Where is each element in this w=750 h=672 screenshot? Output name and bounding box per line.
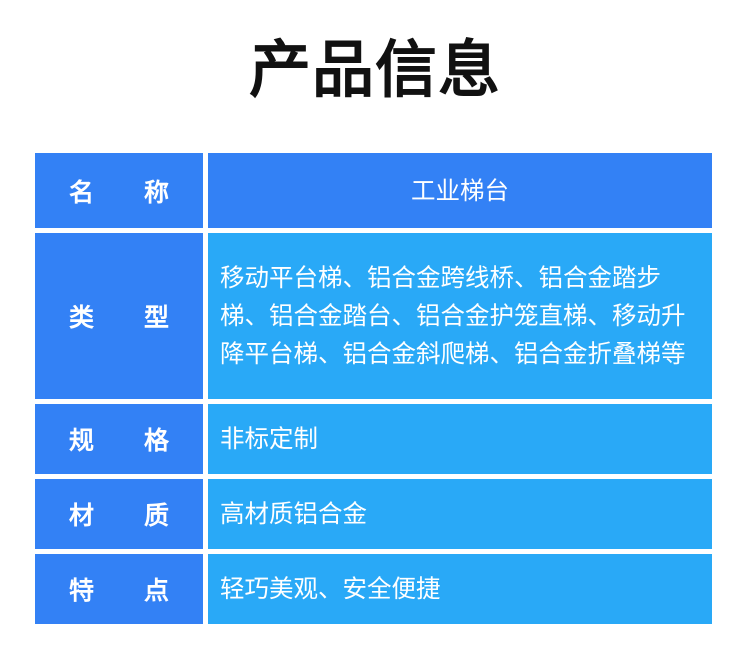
row-value-text: 非标定制: [220, 420, 318, 458]
table-row: 材 质 高材质铝合金: [35, 479, 712, 549]
row-label-type: 类 型: [35, 233, 203, 399]
row-value-name: 工业梯台: [208, 153, 712, 228]
row-label-text: 材 质: [69, 496, 169, 532]
row-value-text: 工业梯台: [411, 172, 509, 210]
row-label-material: 材 质: [35, 479, 203, 549]
row-value-material: 高材质铝合金: [208, 479, 712, 549]
row-value-text: 轻巧美观、安全便捷: [220, 570, 441, 608]
row-value-specification: 非标定制: [208, 404, 712, 474]
page-title: 产品信息: [0, 34, 750, 106]
row-label-text: 名 称: [69, 173, 169, 209]
row-value-feature: 轻巧美观、安全便捷: [208, 554, 712, 624]
row-label-text: 特 点: [69, 571, 169, 607]
product-info-table: 名 称 工业梯台 类 型 移动平台梯、铝合金跨线桥、铝合金踏步梯、铝合金踏台、铝…: [35, 153, 712, 624]
row-value-type: 移动平台梯、铝合金跨线桥、铝合金踏步梯、铝合金踏台、铝合金护笼直梯、移动升降平台…: [208, 233, 712, 399]
row-value-text: 移动平台梯、铝合金跨线桥、铝合金踏步梯、铝合金踏台、铝合金护笼直梯、移动升降平台…: [220, 259, 698, 373]
row-label-specification: 规 格: [35, 404, 203, 474]
row-label-feature: 特 点: [35, 554, 203, 624]
row-label-name: 名 称: [35, 153, 203, 228]
row-label-text: 类 型: [69, 298, 169, 334]
row-label-text: 规 格: [69, 421, 169, 457]
row-value-text: 高材质铝合金: [220, 495, 367, 533]
table-row: 特 点 轻巧美观、安全便捷: [35, 554, 712, 624]
table-row: 规 格 非标定制: [35, 404, 712, 474]
product-info-page: 产品信息 名 称 工业梯台 类 型 移动平台梯、铝合金跨线桥、铝合金踏步梯、铝合…: [0, 0, 750, 672]
table-row: 类 型 移动平台梯、铝合金跨线桥、铝合金踏步梯、铝合金踏台、铝合金护笼直梯、移动…: [35, 233, 712, 399]
table-row: 名 称 工业梯台: [35, 153, 712, 228]
